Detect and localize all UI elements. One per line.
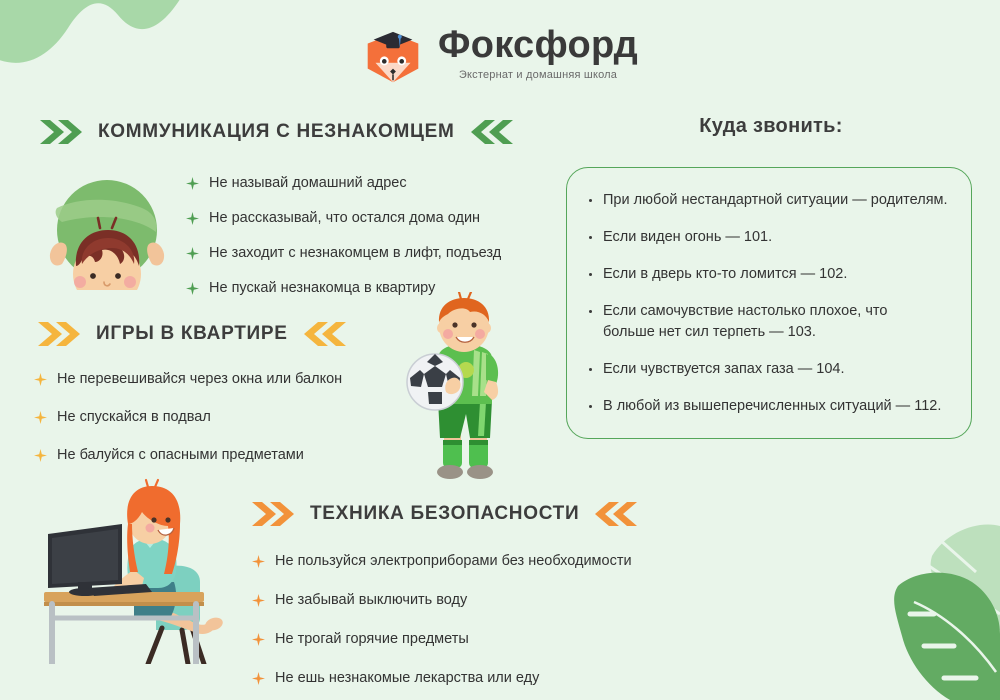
sparkle-star-icon: [186, 282, 199, 295]
list-item: Не забывай выключить воду: [252, 591, 632, 609]
list-item: Если чувствуется запах газа — 104.: [589, 359, 951, 380]
list-item: Не спускайся в подвал: [34, 408, 342, 426]
infographic-canvas: Фоксфорд Экстернат и домашняя школа КОММ…: [0, 0, 1000, 700]
list-item-text: Если виден огонь — 101.: [603, 227, 772, 248]
section-title: КОММУНИКАЦИЯ С НЕЗНАКОМЦЕМ: [98, 121, 455, 143]
sparkle-star-icon: [252, 594, 265, 607]
list-item: Не ешь незнакомые лекарства или еду: [252, 669, 632, 687]
list-item: В любой из вышеперечисленных ситуаций — …: [589, 396, 951, 417]
list-item-text: Не ешь незнакомые лекарства или еду: [275, 669, 539, 687]
chevron-double-right-icon: [36, 320, 82, 348]
list-item-text: Не спускайся в подвал: [57, 408, 211, 426]
boy-with-soccer-ball-illustration: [400, 292, 528, 488]
bullet-list-games-at-home: Не перевешивайся через окна или балкон Н…: [34, 370, 342, 464]
list-item-text: Если в дверь кто-то ломится — 102.: [603, 264, 847, 285]
section-title: ТЕХНИКА БЕЗОПАСНОСТИ: [310, 503, 579, 525]
chevron-double-left-icon: [469, 118, 515, 146]
bullet-dot-icon: [589, 273, 592, 276]
list-item: Не рассказывай, что остался дома один: [186, 209, 501, 227]
chevron-double-left-icon: [302, 320, 348, 348]
list-item-text: Если чувствуется запах газа — 104.: [603, 359, 845, 380]
section-header-games-at-home: ИГРЫ В КВАРТИРЕ: [36, 320, 348, 348]
section-header-safety-technique: ТЕХНИКА БЕЗОПАСНОСТИ: [250, 500, 639, 528]
sparkle-star-icon: [34, 411, 47, 424]
list-item: При любой нестандартной ситуации — родит…: [589, 190, 951, 211]
bullet-dot-icon: [589, 368, 592, 371]
call-panel-title: Куда звонить:: [566, 115, 976, 138]
list-item-text: Не пускай незнакомца в квартиру: [209, 279, 435, 297]
bullet-dot-icon: [589, 405, 592, 408]
list-item: Не балуйся с опасными предметами: [34, 446, 342, 464]
list-item: Не называй домашний адрес: [186, 174, 501, 192]
bullet-dot-icon: [589, 199, 592, 202]
chevron-double-right-icon: [250, 500, 296, 528]
list-item-text: Не трогай горячие предметы: [275, 630, 469, 648]
girl-at-computer-desk-illustration: [22, 478, 244, 664]
list-item-text: Не рассказывай, что остался дома один: [209, 209, 480, 227]
list-item: Не пользуйся электроприборами без необхо…: [252, 552, 632, 570]
sparkle-star-icon: [252, 672, 265, 685]
sparkle-star-icon: [34, 449, 47, 462]
section-header-communication: КОММУНИКАЦИЯ С НЕЗНАКОМЦЕМ: [38, 118, 515, 146]
list-item-text: Не забывай выключить воду: [275, 591, 467, 609]
bullet-list-safety-technique: Не пользуйся электроприборами без необхо…: [252, 552, 632, 688]
monstera-leaves-decoration: [880, 510, 1000, 700]
sparkle-star-icon: [186, 177, 199, 190]
list-item-text: Не перевешивайся через окна или балкон: [57, 370, 342, 388]
list-item-text: При любой нестандартной ситуации — родит…: [603, 190, 948, 211]
list-item-text: В любой из вышеперечисленных ситуаций — …: [603, 396, 941, 417]
list-item: Не пускай незнакомца в квартиру: [186, 279, 501, 297]
sparkle-star-icon: [252, 633, 265, 646]
section-title: ИГРЫ В КВАРТИРЕ: [96, 323, 288, 345]
list-item: Если самочувствие настолько плохое, что …: [589, 301, 951, 343]
brand-logo: Фоксфорд Экстернат и домашняя школа: [0, 26, 1000, 88]
list-item-text: Если самочувствие настолько плохое, что …: [603, 301, 933, 343]
bullet-list-communication: Не называй домашний адрес Не рассказывай…: [186, 174, 501, 298]
bullet-dot-icon: [589, 310, 592, 313]
sparkle-star-icon: [34, 373, 47, 386]
list-item: Не перевешивайся через окна или балкон: [34, 370, 342, 388]
list-item-text: Не балуйся с опасными предметами: [57, 446, 304, 464]
list-item: Не заходит с незнакомцем в лифт, подъезд: [186, 244, 501, 262]
brand-tagline: Экстернат и домашняя школа: [438, 69, 638, 81]
list-item-text: Не пользуйся электроприборами без необхо…: [275, 552, 632, 570]
sparkle-star-icon: [186, 212, 199, 225]
brand-name: Фоксфорд: [438, 26, 638, 66]
fox-graduate-icon: [362, 26, 424, 88]
chevron-double-right-icon: [38, 118, 84, 146]
bullet-dot-icon: [589, 236, 592, 239]
list-item: Если в дверь кто-то ломится — 102.: [589, 264, 951, 285]
list-item-text: Не заходит с незнакомцем в лифт, подъезд: [209, 244, 501, 262]
chevron-double-left-icon: [593, 500, 639, 528]
boy-peeking-behind-circle-illustration: [42, 178, 172, 290]
list-item-text: Не называй домашний адрес: [209, 174, 407, 192]
list-item: Не трогай горячие предметы: [252, 630, 632, 648]
emergency-numbers-panel: При любой нестандартной ситуации — родит…: [566, 167, 972, 439]
sparkle-star-icon: [186, 247, 199, 260]
list-item: Если виден огонь — 101.: [589, 227, 951, 248]
sparkle-star-icon: [252, 555, 265, 568]
